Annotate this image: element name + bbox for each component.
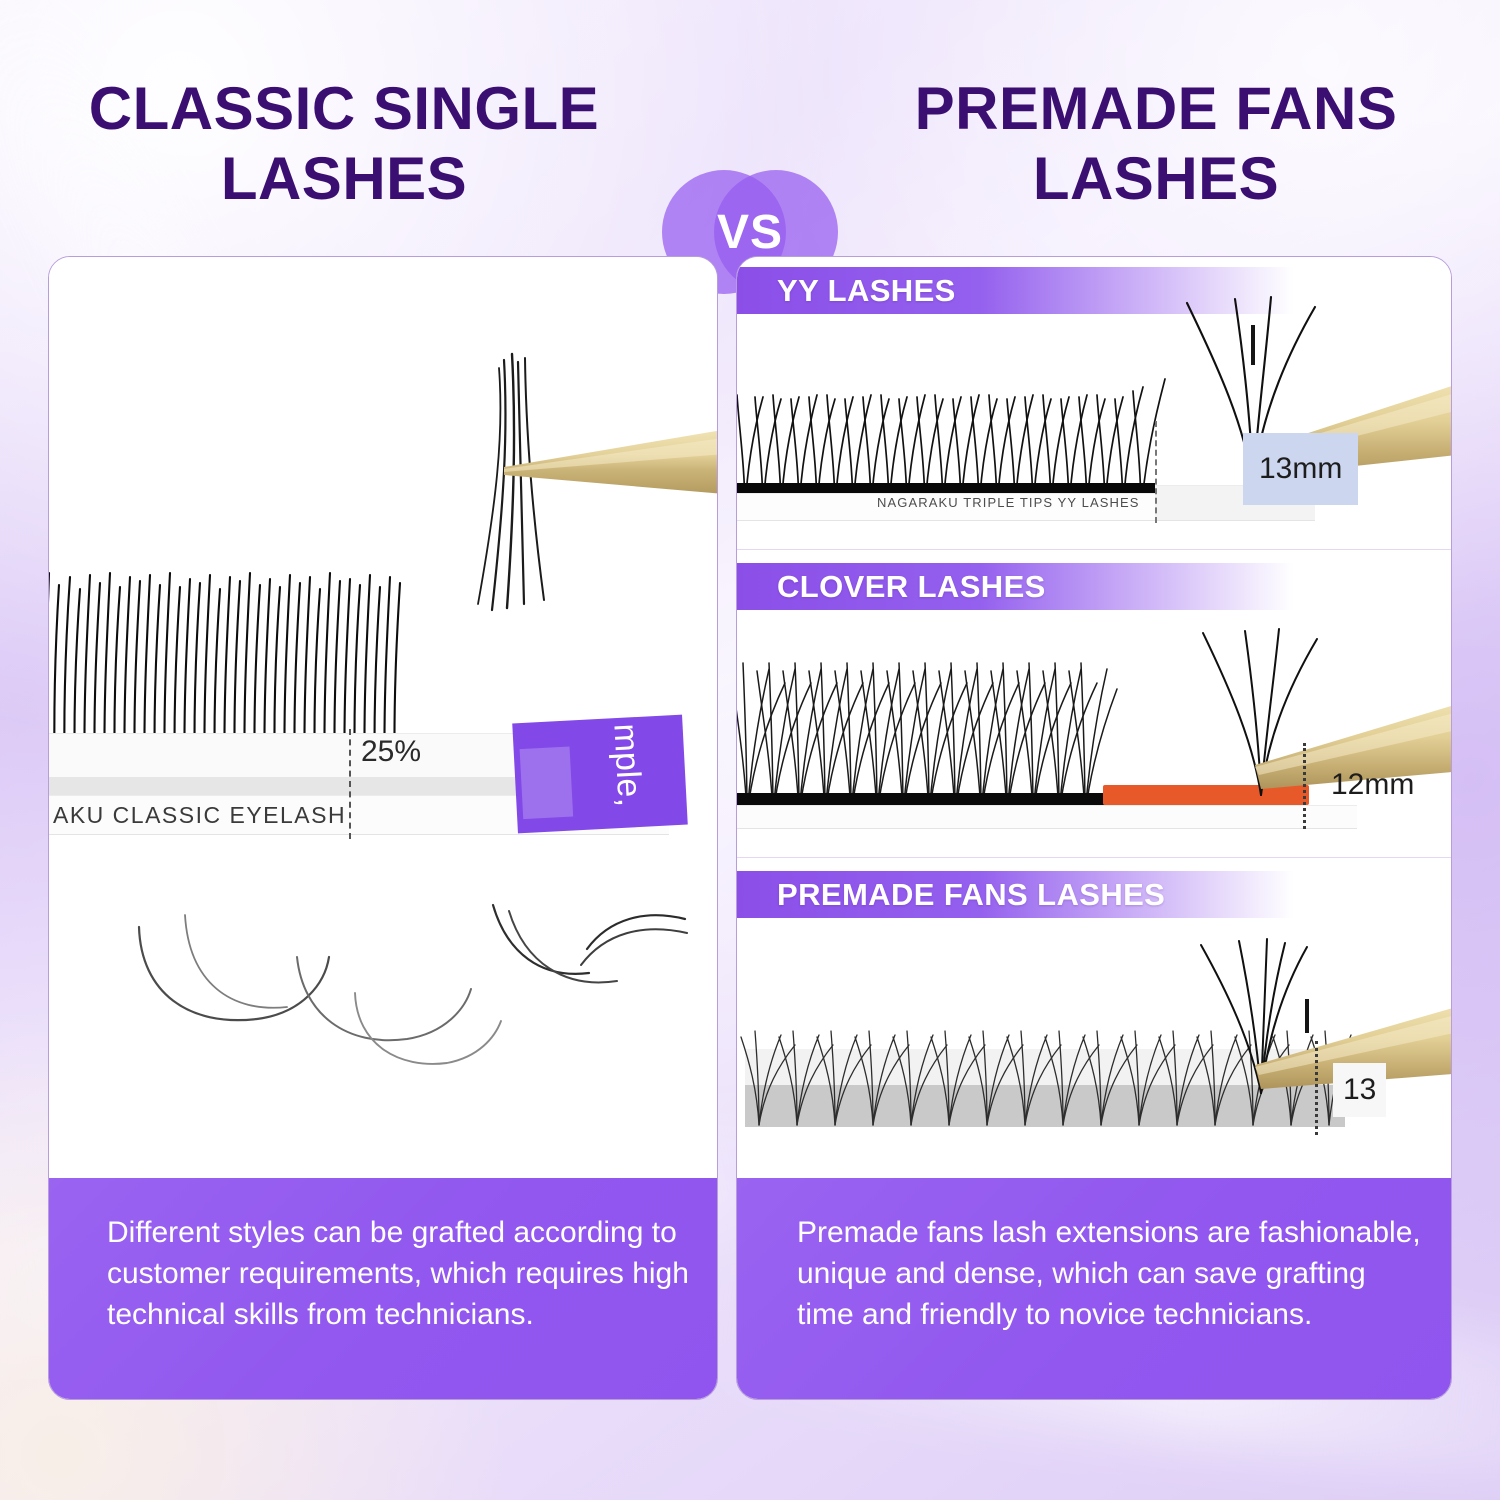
section-divider — [737, 549, 1451, 550]
premade-measurement-value: 13 — [1343, 1073, 1376, 1107]
premade-measure-line — [1315, 1041, 1318, 1135]
yy-measure-line — [1155, 421, 1157, 523]
section-label-text: CLOVER LASHES — [737, 569, 1046, 605]
classic-measure-line — [349, 729, 351, 839]
yy-measurement-value: 13mm — [1259, 452, 1342, 486]
classic-panel-image-area: 25% AKU CLASSIC EYELASH mple, — [49, 257, 717, 1178]
section-label-text: YY LASHES — [737, 273, 956, 309]
classic-single-lashes-panel: 25% AKU CLASSIC EYELASH mple, — [48, 256, 718, 1400]
scattered-curved-lashes-illustration — [89, 897, 689, 1067]
classic-panel-caption: Different styles can be grafted accordin… — [49, 1178, 717, 1399]
premade-fans-lashes-panel: YY LASHES — [736, 256, 1452, 1400]
infographic-root: CLASSIC SINGLE LASHES VS PREMADE FANS LA… — [0, 0, 1500, 1500]
yy-tray-brand-text: NAGARAKU TRIPLE TIPS YY LASHES — [877, 495, 1140, 510]
purple-card-inner-block — [520, 747, 574, 820]
section-label-clover-lashes: CLOVER LASHES — [737, 563, 1451, 610]
header: CLASSIC SINGLE LASHES VS PREMADE FANS LA… — [0, 74, 1500, 230]
purple-accent-card: mple, — [512, 715, 688, 834]
clover-measurement-chip: 12mm — [1321, 761, 1424, 809]
section-divider — [737, 857, 1451, 858]
right-panel-title: PREMADE FANS LASHES — [846, 74, 1466, 214]
section-label-text: PREMADE FANS LASHES — [737, 877, 1165, 913]
tweezers-with-single-lashes-illustration — [404, 342, 717, 622]
premade-measure-tick — [1303, 999, 1311, 1033]
premade-panel-caption: Premade fans lash extensions are fashion… — [737, 1178, 1451, 1399]
yy-measurement-chip: 13mm — [1243, 433, 1358, 505]
purple-card-text: mple, — [605, 723, 648, 808]
percent-label: 25% — [361, 735, 421, 769]
premade-fan-in-tweezers-illustration — [1177, 933, 1451, 1117]
clover-measure-line — [1303, 743, 1306, 829]
clover-lashes-strip-illustration — [737, 649, 1117, 819]
clover-measurement-value: 12mm — [1331, 768, 1414, 802]
yy-measure-tick — [1249, 325, 1257, 365]
section-label-premade-fans-lashes: PREMADE FANS LASHES — [737, 871, 1451, 918]
premade-panel-image-area: YY LASHES — [737, 257, 1451, 1178]
premade-measurement-chip: 13 — [1333, 1063, 1386, 1117]
left-panel-title: CLASSIC SINGLE LASHES — [34, 74, 654, 214]
classic-tray-brand-text: AKU CLASSIC EYELASH — [53, 802, 346, 829]
